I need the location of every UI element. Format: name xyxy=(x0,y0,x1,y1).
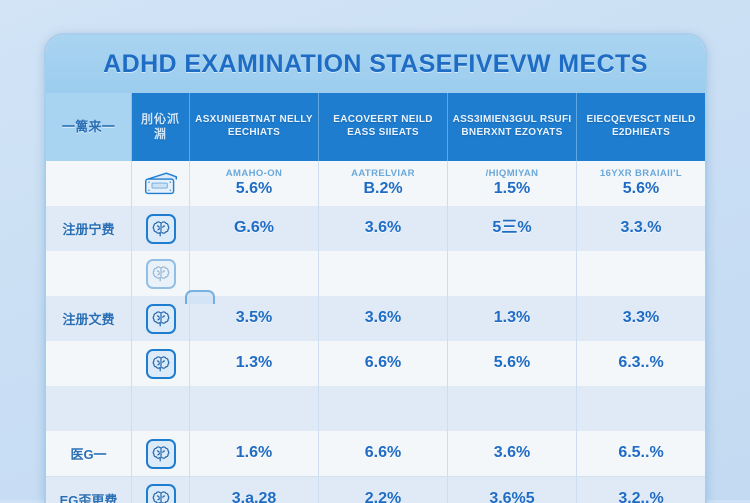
row-label-cell xyxy=(46,341,132,386)
cell-content: 6.5..% xyxy=(618,444,663,463)
row-icon-cell xyxy=(132,251,190,296)
cell-value: 3.a.28 xyxy=(232,490,276,503)
data-cell[interactable]: 6.3..% xyxy=(577,341,705,386)
brain-icon-ghost xyxy=(185,290,215,304)
brain-icon xyxy=(146,439,176,469)
brain-icon xyxy=(146,484,176,503)
data-cell[interactable]: 5.6% xyxy=(448,341,577,386)
table-header-icon-column[interactable]: 刖伈沠淵 xyxy=(132,93,190,161)
data-cell[interactable]: 1.6% xyxy=(190,431,319,476)
cell-content: 6.6% xyxy=(365,354,401,373)
cell-content: 6.6% xyxy=(365,444,401,463)
data-cell[interactable]: 6.5..% xyxy=(577,431,705,476)
cell-content: 6.3..% xyxy=(618,354,663,373)
data-cell[interactable]: 6.6% xyxy=(319,341,448,386)
cell-content: 5三% xyxy=(492,219,531,238)
data-cell[interactable] xyxy=(448,251,577,296)
cell-content: 1.3% xyxy=(236,354,272,373)
data-cell[interactable]: AMAHO-ON5.6% xyxy=(190,161,319,206)
cell-value: 5.6% xyxy=(236,180,272,197)
cell-content: 3.a.28 xyxy=(232,490,276,503)
data-cell[interactable]: 3.6% xyxy=(448,431,577,476)
cell-value: 3.2..% xyxy=(618,490,663,503)
cell-value: 6.6% xyxy=(365,444,401,461)
data-cell[interactable]: 3.3.% xyxy=(577,206,705,251)
card-title-bar: ADHD EXAMINATION STASEFIVEVW MECTS xyxy=(46,35,705,93)
table-header-col-2[interactable]: EACOVEERT NEILD EASS SIIEATS xyxy=(319,93,448,161)
page-backdrop: ADHD EXAMINATION STASEFIVEVW MECTS 一篱来一 … xyxy=(0,0,750,500)
cell-value: 3.5% xyxy=(236,309,272,326)
data-cell[interactable]: 3.6%5 xyxy=(448,477,577,503)
data-cell[interactable] xyxy=(448,386,577,431)
data-cell[interactable]: 16YXR BRAIAII'L5.6% xyxy=(577,161,705,206)
table-row[interactable]: 注册宁费G.6%3.6%5三%3.3.% xyxy=(46,206,705,251)
cell-value: 6.5..% xyxy=(618,444,663,461)
brain-icon xyxy=(146,349,176,379)
table-header-col-1[interactable]: ASXUNIEBTNAT NELLY EECHIATS xyxy=(190,93,319,161)
page-title: ADHD EXAMINATION STASEFIVEVW MECTS xyxy=(103,50,648,79)
row-icon-cell xyxy=(132,341,190,386)
data-cell[interactable] xyxy=(577,251,705,296)
cell-mini-label: 16YXR BRAIAII'L xyxy=(600,168,682,179)
cell-value: 3.3.% xyxy=(621,219,662,236)
data-cell[interactable]: 3.3% xyxy=(577,296,705,341)
data-cell[interactable]: 3.2..% xyxy=(577,477,705,503)
row-icon-cell xyxy=(132,296,190,341)
cell-value: 1.5% xyxy=(494,180,530,197)
cell-value: 6.6% xyxy=(365,354,401,371)
data-cell[interactable] xyxy=(190,386,319,431)
cell-mini-label: /HIQMIYAN xyxy=(486,168,539,179)
cell-content: 3.6% xyxy=(365,309,401,328)
cell-mini-label: AMAHO-ON xyxy=(226,168,283,179)
cell-content: AATRELVIARB.2% xyxy=(351,168,415,199)
data-cell[interactable]: 6.6% xyxy=(319,431,448,476)
data-cell[interactable] xyxy=(319,251,448,296)
data-cell[interactable]: 1.3% xyxy=(190,341,319,386)
cell-value: 1.3% xyxy=(494,309,530,326)
brain-icon xyxy=(146,214,176,244)
row-label-cell: EG歪更费 xyxy=(46,477,132,503)
cell-value: G.6% xyxy=(234,219,274,236)
data-cell[interactable]: 5三% xyxy=(448,206,577,251)
cell-value: 2.2% xyxy=(365,490,401,503)
cell-content: 1.6% xyxy=(236,444,272,463)
cell-value: 3.6%5 xyxy=(489,490,534,503)
cell-value: 1.6% xyxy=(236,444,272,461)
cell-value: 5三% xyxy=(492,219,531,236)
cell-value: 3.3% xyxy=(623,309,659,326)
table-row[interactable]: 注册文费3.5%3.6%1.3%3.3% xyxy=(46,296,705,341)
cell-value: 5.6% xyxy=(494,354,530,371)
adhd-examination-table-card: ADHD EXAMINATION STASEFIVEVW MECTS 一篱来一 … xyxy=(44,33,707,503)
row-label: 注册宁费 xyxy=(62,219,114,238)
cell-content: 1.3% xyxy=(494,309,530,328)
data-cell[interactable]: AATRELVIARB.2% xyxy=(319,161,448,206)
table-header-col-3[interactable]: ASS3IMIEN3GUL RSUFI BNERXNT EZOYATS xyxy=(448,93,577,161)
data-cell[interactable]: 3.a.28 xyxy=(190,477,319,503)
cell-content: 3.6% xyxy=(365,219,401,238)
table-row[interactable]: EG歪更费3.a.282.2%3.6%53.2..% xyxy=(46,476,705,503)
cell-content: /HIQMIYAN1.5% xyxy=(486,168,539,199)
cell-content: 3.3% xyxy=(623,309,659,328)
row-label-cell xyxy=(46,386,132,431)
cell-value: 3.6% xyxy=(365,219,401,236)
cell-content: 5.6% xyxy=(494,354,530,373)
cell-content: G.6% xyxy=(234,219,274,238)
cell-value: 5.6% xyxy=(623,180,659,197)
row-label: EG歪更费 xyxy=(60,490,118,503)
cell-content: 2.2% xyxy=(365,490,401,503)
cell-content: 3.6%5 xyxy=(489,490,534,503)
table-header-col-4[interactable]: EIECQEVESCT NEILD E2DHIEATS xyxy=(577,93,705,161)
data-cell[interactable]: G.6% xyxy=(190,206,319,251)
table-header-corner: 一篱来一 xyxy=(46,93,132,161)
row-label-cell: 注册文费 xyxy=(46,296,132,341)
row-icon-cell xyxy=(132,386,190,431)
data-cell[interactable]: 3.6% xyxy=(319,296,448,341)
cell-content: 3.5% xyxy=(236,309,272,328)
cell-content: 3.2..% xyxy=(618,490,663,503)
cell-content: 3.3.% xyxy=(621,219,662,238)
brain-icon xyxy=(146,304,176,334)
row-icon-cell xyxy=(132,161,190,206)
data-cell[interactable]: 1.3% xyxy=(448,296,577,341)
data-cell[interactable] xyxy=(577,386,705,431)
data-cell[interactable]: 2.2% xyxy=(319,477,448,503)
row-label: 注册文费 xyxy=(62,309,114,328)
table-row[interactable] xyxy=(46,386,705,431)
data-cell[interactable]: /HIQMIYAN1.5% xyxy=(448,161,577,206)
row-icon-cell xyxy=(132,477,190,503)
table-header-row: 一篱来一 刖伈沠淵 ASXUNIEBTNAT NELLY EECHIATS EA… xyxy=(46,93,705,161)
data-cell[interactable] xyxy=(319,386,448,431)
table-body: AMAHO-ON5.6%AATRELVIARB.2%/HIQMIYAN1.5%1… xyxy=(46,161,705,503)
row-label-cell xyxy=(46,251,132,296)
row-icon-cell xyxy=(132,431,190,476)
table-row[interactable] xyxy=(46,251,705,296)
row-label: 医G一 xyxy=(70,444,106,463)
table-row[interactable]: AMAHO-ON5.6%AATRELVIARB.2%/HIQMIYAN1.5%1… xyxy=(46,161,705,206)
brain-icon xyxy=(146,259,176,289)
row-label-cell: 医G一 xyxy=(46,431,132,476)
cell-content: 16YXR BRAIAII'L5.6% xyxy=(600,168,682,199)
cell-content: AMAHO-ON5.6% xyxy=(226,168,283,199)
table-row[interactable]: 1.3%6.6%5.6%6.3..% xyxy=(46,341,705,386)
cell-value: 3.6% xyxy=(365,309,401,326)
cell-content: 3.6% xyxy=(494,444,530,463)
cell-mini-label: AATRELVIAR xyxy=(351,168,415,179)
wallet-icon xyxy=(143,171,179,197)
row-label-cell xyxy=(46,161,132,206)
cell-value: 1.3% xyxy=(236,354,272,371)
cell-value: 6.3..% xyxy=(618,354,663,371)
cell-value: B.2% xyxy=(363,180,402,197)
row-icon-cell xyxy=(132,206,190,251)
row-label-cell: 注册宁费 xyxy=(46,206,132,251)
cell-value: 3.6% xyxy=(494,444,530,461)
data-cell[interactable]: 3.6% xyxy=(319,206,448,251)
table-row[interactable]: 医G一1.6%6.6%3.6%6.5..% xyxy=(46,431,705,476)
